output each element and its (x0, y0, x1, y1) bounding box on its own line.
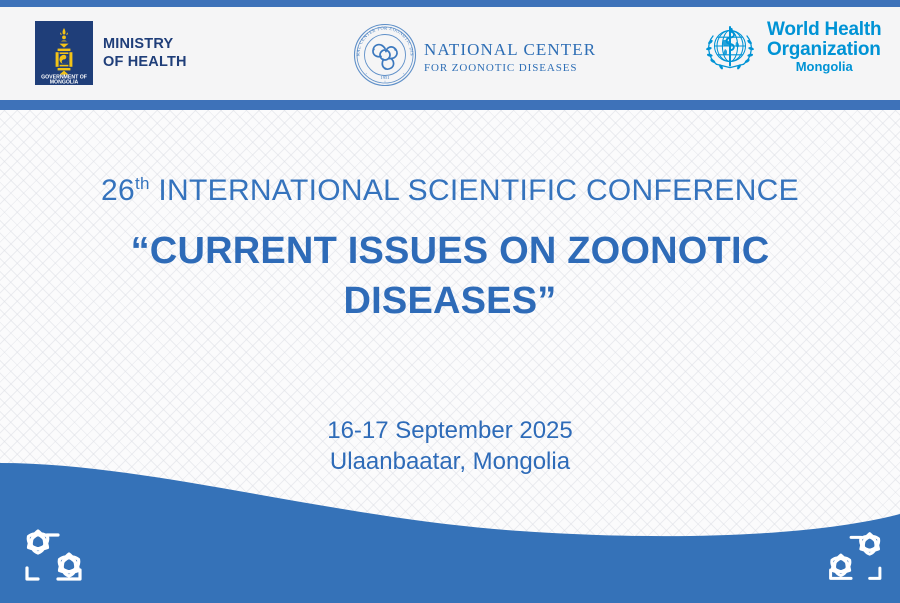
crest-caption-line2: MONGOLIA (50, 80, 79, 85)
ncz-name-line1: NATIONAL CENTER (424, 40, 596, 60)
top-accent-rule (0, 0, 900, 7)
conference-title-line2: DISEASES” (60, 276, 840, 326)
conference-title: “CURRENT ISSUES ON ZOONOTIC DISEASES” (0, 226, 900, 326)
moh-name-line1: MINISTRY (103, 36, 173, 52)
logo-ministry-of-health: GOVERNMENT OF MONGOLIA MINISTRY OF HEALT… (35, 21, 187, 85)
mongolian-knot-ornament-right-icon (812, 527, 892, 585)
conference-ordinal-suffix: th (135, 174, 150, 193)
who-emblem-icon (700, 20, 760, 83)
conference-title-slide: GOVERNMENT OF MONGOLIA MINISTRY OF HEALT… (0, 0, 900, 603)
ministry-of-health-name: MINISTRY OF HEALTH (103, 35, 187, 71)
logo-world-health-organization: World Health Organization Mongolia (700, 20, 881, 83)
zoonotic-seal-icon: NATIONAL CENTER FOR ZOONOTIC DISEASES 19… (352, 22, 418, 93)
conference-ordinal-number: 26 (101, 174, 135, 207)
moh-name-line2: OF HEALTH (103, 54, 187, 70)
event-details: 16-17 September 2025 Ulaanbaatar, Mongol… (0, 415, 900, 477)
who-name-line1: World Health (767, 20, 881, 40)
title-block: 26th INTERNATIONAL SCIENTIFIC CONFERENCE… (0, 170, 900, 326)
event-date: 16-17 September 2025 (0, 415, 900, 446)
mongolia-soyombo-crest-icon: GOVERNMENT OF MONGOLIA (35, 21, 93, 85)
header-accent-rule (0, 100, 900, 110)
mongolian-knot-ornament-left-icon (14, 524, 100, 586)
seal-year: 1951 (380, 75, 390, 80)
who-name: World Health Organization Mongolia (767, 20, 881, 74)
conference-eyebrow-rest: INTERNATIONAL SCIENTIFIC CONFERENCE (150, 174, 799, 207)
logo-national-center-zoonotic-diseases: NATIONAL CENTER FOR ZOONOTIC DISEASES 19… (352, 22, 596, 93)
event-location: Ulaanbaatar, Mongolia (0, 446, 900, 477)
ncz-name-line2: FOR ZOONOTIC DISEASES (424, 62, 596, 75)
conference-title-line1: “CURRENT ISSUES ON ZOONOTIC (60, 226, 840, 276)
who-name-line2: Organization (767, 40, 881, 60)
ncz-name: NATIONAL CENTER FOR ZOONOTIC DISEASES (424, 40, 596, 74)
who-country-label: Mongolia (767, 60, 881, 74)
conference-eyebrow: 26th INTERNATIONAL SCIENTIFIC CONFERENCE (0, 170, 900, 212)
